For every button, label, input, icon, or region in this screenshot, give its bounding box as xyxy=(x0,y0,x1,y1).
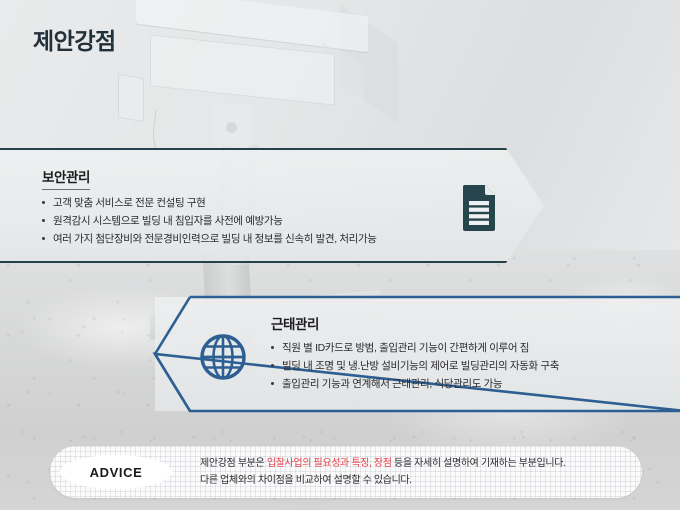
globe-icon xyxy=(200,334,246,385)
list-item: 여러 가지 첨단장비와 전문경비인력으로 빌딩 내 정보를 신속히 발견, 처리… xyxy=(42,230,377,248)
advice-line-2: 다른 업체와의 차이점을 비교하여 설명할 수 있습니다. xyxy=(200,472,630,489)
panel-attendance-bullet-list: 직원 별 ID카드로 방범, 출입관리 기능이 간편하게 이루어 짐 빌딩 내 … xyxy=(271,339,559,393)
list-item: 고객 맞춤 서비스로 전문 컨설팅 구현 xyxy=(42,194,377,212)
advice-line1-before: 제안강점 부분은 xyxy=(200,458,267,469)
panel-security-bullet-list: 고객 맞춤 서비스로 전문 컨설팅 구현 원격감시 시스템으로 빌딩 내 침입자… xyxy=(42,194,377,248)
list-item: 원격감시 시스템으로 빌딩 내 침입자를 사전에 예방가능 xyxy=(42,212,377,230)
cctv-adjust-knob xyxy=(226,122,237,133)
panel-security-heading: 보안관리 xyxy=(42,166,90,190)
list-item: 빌딩 내 조명 및 냉.난방 설비기능의 제어로 빌딩관리의 자동화 구축 xyxy=(271,357,559,375)
list-item: 출입관리 기능과 연계해서 근태관리, 식당관리도 가능 xyxy=(271,375,559,393)
advice-text: 제안강점 부분은 입찰사업의 필요성과 특징, 장점 등을 자세히 설명하여 기… xyxy=(200,455,630,489)
list-item: 직원 별 ID카드로 방범, 출입관리 기능이 간편하게 이루어 짐 xyxy=(271,339,559,357)
panel-attendance-heading: 근태관리 xyxy=(271,313,319,336)
slide-canvas: 제안강점 보안관리 고객 맞춤 서비스로 전문 컨설팅 구현 원격감시 시스템으… xyxy=(0,0,680,510)
page-title: 제안강점 xyxy=(33,22,116,56)
advice-badge: ADVICE xyxy=(60,455,172,489)
advice-line1-after: 등을 자세히 설명하여 기재하는 부분입니다. xyxy=(392,458,566,469)
document-icon xyxy=(459,184,499,237)
advice-box: ADVICE 제안강점 부분은 입찰사업의 필요성과 특징, 장점 등을 자세히… xyxy=(50,446,642,498)
cctv-side-box xyxy=(118,74,144,123)
advice-line-1: 제안강점 부분은 입찰사업의 필요성과 특징, 장점 등을 자세히 설명하여 기… xyxy=(200,455,630,472)
advice-line1-highlight: 입찰사업의 필요성과 특징, 장점 xyxy=(267,458,392,469)
